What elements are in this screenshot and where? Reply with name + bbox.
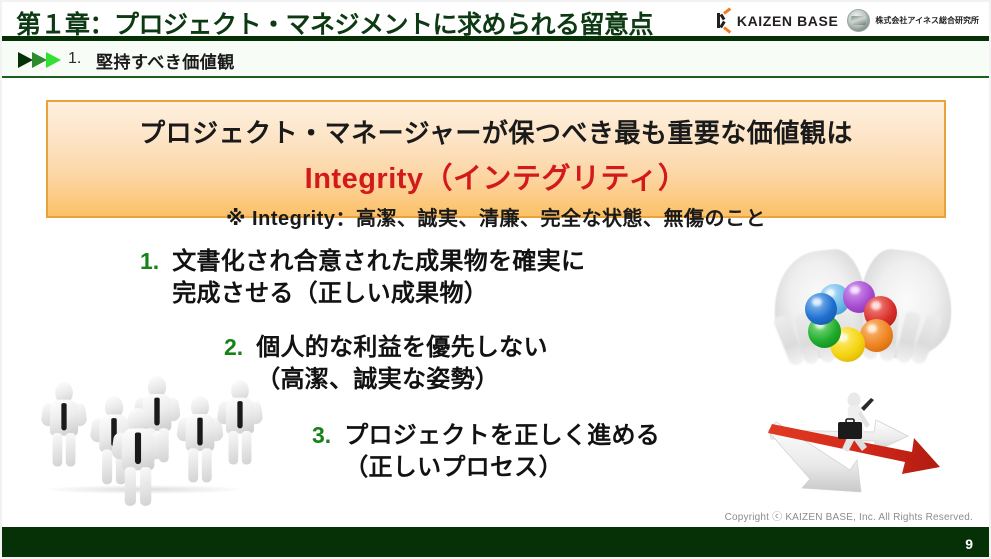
- subheader-label: 堅持すべき価値観: [96, 48, 235, 73]
- subheader-number: 1.: [68, 50, 81, 68]
- list-item-number: 2.: [224, 332, 243, 363]
- list-item: 2. 個人的な利益を優先しない （高潔、誠実な姿勢）: [224, 332, 548, 396]
- page-number: 9: [965, 536, 973, 552]
- callout-line-2: Integrity（インテグリティ）: [48, 155, 944, 197]
- list-item: 3. プロジェクトを正しく進める （正しいプロセス）: [312, 420, 660, 484]
- kaizen-base-logo: KAIZEN BASE: [716, 12, 839, 29]
- slide-header: 第１章：プロジェクト・マネジメントに求められる留意点 KAIZEN BASE 株…: [2, 2, 989, 36]
- list-item-text: プロジェクトを正しく進める （正しいプロセス）: [344, 420, 660, 484]
- callout-line-3: ※ Integrity：高潔、誠実、清廉、完全な状態、無傷のこと: [48, 202, 944, 231]
- list-item-line-1: プロジェクトを正しく進める: [344, 420, 660, 452]
- ines-research-logo: 株式会社アイネス総合研究所: [847, 9, 979, 32]
- brand-logos: KAIZEN BASE 株式会社アイネス総合研究所: [716, 9, 979, 32]
- slide: 第１章：プロジェクト・マネジメントに求められる留意点 KAIZEN BASE 株…: [0, 0, 991, 559]
- ines-seal-icon: [847, 9, 870, 32]
- list-item: 1. 文書化され合意された成果物を確実に 完成させる（正しい成果物）: [140, 246, 585, 310]
- kaizen-mark-icon: [716, 12, 733, 29]
- team-of-figures-image: [34, 374, 249, 496]
- list-item-line-1: 個人的な利益を優先しない: [256, 332, 548, 364]
- kaizen-base-wordmark: KAIZEN BASE: [737, 14, 839, 28]
- list-item-text: 文書化され合意された成果物を確実に 完成させる（正しい成果物）: [172, 246, 585, 310]
- ball-orange: [860, 319, 893, 352]
- list-item-line-2: （正しいプロセス）: [344, 452, 660, 484]
- ball-blue: [805, 293, 837, 325]
- section-subheader: 1. 堅持すべき価値観: [2, 41, 989, 78]
- copyright-text: Copyright ⓒ KAIZEN BASE, Inc. All Rights…: [725, 508, 973, 523]
- list-item-number: 3.: [312, 420, 331, 451]
- hands-holding-colored-balls-image: [772, 243, 957, 361]
- list-item-line-2: （高潔、誠実な姿勢）: [256, 364, 548, 396]
- red-arrow-crossing-white-arrows-image: [762, 392, 967, 497]
- callout-line-1: プロジェクト・マネージャーが保つべき最も重要な価値観は: [48, 113, 944, 150]
- list-item-line-2: 完成させる（正しい成果物）: [172, 278, 585, 310]
- list-item-line-1: 文書化され合意された成果物を確実に: [172, 246, 585, 278]
- slide-footer: [2, 527, 989, 557]
- list-item-number: 1.: [140, 246, 159, 277]
- ines-wordmark: 株式会社アイネス総合研究所: [875, 15, 979, 26]
- list-item-text: 個人的な利益を優先しない （高潔、誠実な姿勢）: [256, 332, 548, 396]
- key-message-callout: プロジェクト・マネージャーが保つべき最も重要な価値観は Integrity（イン…: [46, 100, 946, 218]
